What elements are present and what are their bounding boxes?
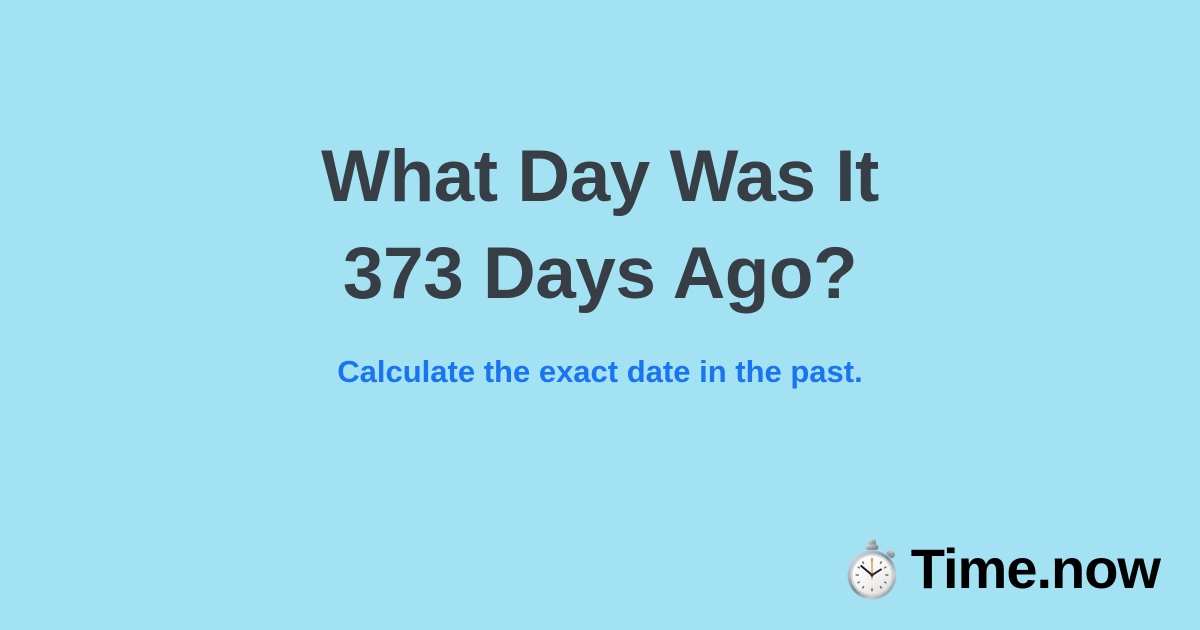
page-subtitle: Calculate the exact date in the past. [0,352,1200,392]
brand-name: Time.now [911,541,1160,597]
brand-logo[interactable]: Time.now [843,538,1160,600]
page-title: What Day Was It 373 Days Ago? [0,128,1200,322]
share-card: What Day Was It 373 Days Ago? Calculate … [0,0,1200,630]
stopwatch-icon [843,538,901,600]
page-title-line-1: What Day Was It [0,128,1200,225]
page-title-line-2: 373 Days Ago? [0,225,1200,322]
